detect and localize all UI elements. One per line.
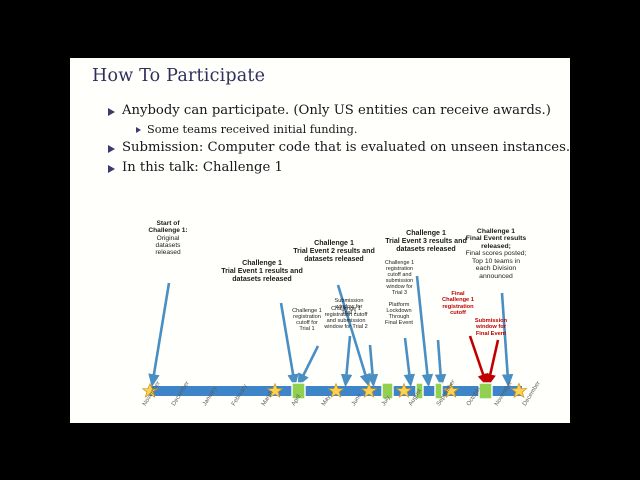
- callout-line: window for Trial 2: [312, 324, 380, 330]
- callout-line: released: [128, 249, 208, 256]
- callout-line: Final Event: [466, 331, 516, 337]
- bullet-item-2: Some teams received initial funding.: [136, 123, 558, 137]
- callout-trial-event-1-results: Challenge 1 Trial Event 1 results and da…: [206, 260, 318, 283]
- leader-arrow-registration-cutoff-trial-2: [370, 345, 373, 380]
- bullet-text: In this talk: Challenge 1: [122, 160, 283, 177]
- callout-start-challenge-1: Start of Challenge 1: Original datasets …: [128, 220, 208, 256]
- callout-final-event-results: Challenge 1 Final Event results released…: [448, 228, 544, 280]
- callout-submission-window-final-event: Submission window for Final Event: [466, 318, 516, 337]
- bullet-item-4: In this talk: Challenge 1: [108, 160, 558, 177]
- leader-arrow-final-registration-cutoff: [470, 336, 485, 380]
- callout-line: Trial 3: [378, 290, 421, 296]
- bullet-text: Some teams received initial funding.: [147, 123, 357, 137]
- callout-line: Final Event results: [448, 235, 544, 242]
- callout-platform-lockdown: Platform Lockdown Through Final Event: [376, 302, 422, 327]
- leader-arrow-registration-cutoff-trial-1: [301, 346, 318, 380]
- timeline-diagram: Start of Challenge 1: Original datasets …: [70, 188, 570, 423]
- bullet-list: Anybody can participate. (Only US entiti…: [108, 103, 558, 180]
- callout-line: Final scores posted;: [448, 250, 544, 257]
- callout-line: Top 10 teams in: [448, 258, 544, 265]
- bullet-item-3: Submission: Computer code that is evalua…: [108, 140, 558, 157]
- callout-line: released;: [448, 243, 544, 250]
- callout-line: Original: [128, 235, 208, 242]
- callout-line: announced: [448, 273, 544, 280]
- callout-registration-cutoff-trial-3: Challenge 1 registration cutoff and subm…: [378, 260, 421, 296]
- leader-arrow-red-group: [470, 336, 498, 380]
- leader-arrow-platform-lockdown: [438, 340, 441, 380]
- callout-line: Start of: [128, 220, 208, 227]
- bullet-triangle-icon: [108, 108, 115, 116]
- bullet-triangle-icon: [108, 165, 115, 173]
- callout-line: cutoff: [434, 310, 482, 316]
- callout-line: datasets: [128, 242, 208, 249]
- callout-line: Challenge 1: [448, 228, 544, 235]
- leader-arrow-submission-window-trial-1: [346, 336, 350, 380]
- screen: How To Participate Anybody can participa…: [0, 0, 640, 480]
- presentation-slide: How To Participate Anybody can participa…: [70, 58, 570, 423]
- leader-arrow-start-challenge: [153, 283, 169, 380]
- bullet-text: Anybody can participate. (Only US entiti…: [122, 103, 551, 120]
- bullet-triangle-icon: [108, 145, 115, 153]
- callout-line: Challenge 1:: [128, 227, 208, 234]
- callout-line: Final Event: [376, 320, 422, 326]
- callout-registration-cutoff-trial-2: Challenge 1 registration cutoff and subm…: [312, 306, 380, 331]
- callout-line: each Division: [448, 265, 544, 272]
- bullet-text: Submission: Computer code that is evalua…: [122, 140, 570, 157]
- callout-line: datasets released: [206, 276, 318, 284]
- callout-line: datasets released: [278, 256, 390, 264]
- leader-arrow-submission-window-final-event: [489, 340, 498, 380]
- page-title: How To Participate: [92, 66, 265, 86]
- callout-final-registration-cutoff: Final Challenge 1 registration cutoff: [434, 291, 482, 316]
- bullet-item-1: Anybody can participate. (Only US entiti…: [108, 103, 558, 120]
- bullet-triangle-icon: [136, 127, 141, 133]
- leader-arrow-registration-cutoff-trial-3: [405, 338, 410, 380]
